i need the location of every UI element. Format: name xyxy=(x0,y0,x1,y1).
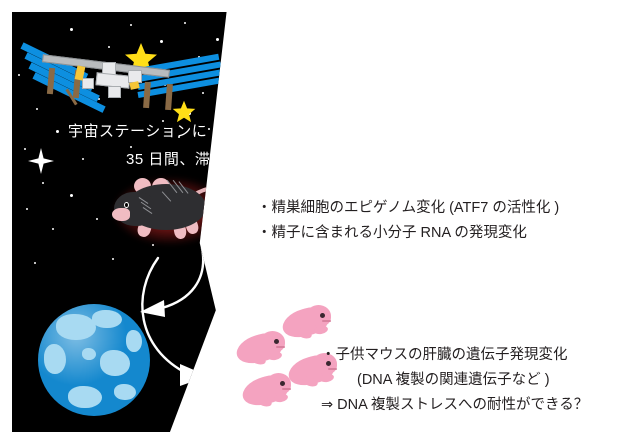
infographic-figure: 宇宙ステーションに 35 日間、滞在。 xyxy=(0,0,620,446)
offspring-findings-block: ・子供マウスの肝臓の遺伝子発現変化 (DNA 複製の関連遺伝子など ) ⇒ DN… xyxy=(321,343,588,418)
finding-line: (DNA 複製の関連遺伝子など ) xyxy=(321,368,588,393)
caption-station-stay: 宇宙ステーションに xyxy=(68,120,207,141)
space-station-icon xyxy=(20,30,235,120)
finding-line: ・子供マウスの肝臓の遺伝子発現変化 xyxy=(321,343,588,368)
earth-icon xyxy=(38,304,150,416)
pup-icon xyxy=(242,373,296,407)
pup-icon xyxy=(236,331,290,365)
finding-line-conclusion: ⇒ DNA 複製ストレスへの耐性ができる？ xyxy=(321,393,588,418)
pup-icon xyxy=(282,305,336,339)
adult-mouse-icon xyxy=(112,172,242,257)
mouse-eye xyxy=(124,202,129,208)
finding-line: ・精巣細胞のエピゲノム変化 (ATF7 の活性化 ) xyxy=(257,196,559,221)
finding-line: ・精子に含まれる小分子 RNA の発現変化 xyxy=(257,221,559,246)
caption-duration: 35 日間、滞在。 xyxy=(126,148,241,169)
parent-findings-block: ・精巣細胞のエピゲノム変化 (ATF7 の活性化 ) ・精子に含まれる小分子 R… xyxy=(257,196,559,246)
